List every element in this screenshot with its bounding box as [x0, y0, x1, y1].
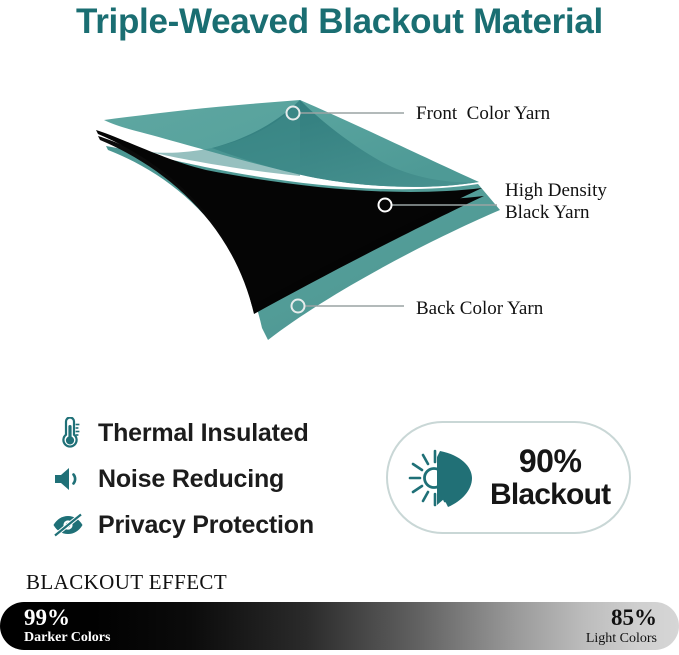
feature-label: Thermal Insulated	[98, 419, 309, 448]
feature-list: Thermal Insulated Noise Reducing Privacy…	[48, 410, 378, 548]
feature-noise-reducing: Noise Reducing	[48, 456, 378, 502]
bar-right-caption: Light Colors	[586, 632, 657, 646]
thermometer-icon	[48, 413, 88, 453]
blackout-badge: 90% Blackout	[386, 421, 631, 534]
feature-label: Noise Reducing	[98, 465, 284, 494]
bar-left-stat: 99% Darker Colors	[24, 606, 110, 645]
page-title: Triple-Weaved Blackout Material	[0, 2, 679, 42]
bar-right-percent: 85%	[586, 606, 657, 629]
bar-right-stat: 85% Light Colors	[586, 606, 657, 646]
badge-percent: 90%	[490, 445, 610, 479]
eye-slash-icon	[48, 505, 88, 545]
speaker-sound-icon	[48, 459, 88, 499]
badge-text-block: 90% Blackout	[490, 445, 610, 510]
sun-blocked-by-curtain-icon	[404, 443, 482, 513]
feature-label: Privacy Protection	[98, 511, 314, 540]
blackout-effect-gradient-bar: 99% Darker Colors 85% Light Colors	[0, 602, 679, 650]
feature-privacy-protection: Privacy Protection	[48, 502, 378, 548]
callout-label-black: High Density Black Yarn	[505, 180, 607, 225]
blackout-effect-heading: BLACKOUT EFFECT	[26, 570, 227, 595]
bar-left-caption: Darker Colors	[24, 631, 110, 645]
callout-label-back: Back Color Yarn	[416, 298, 543, 320]
feature-thermal-insulated: Thermal Insulated	[48, 410, 378, 456]
callout-label-front: Front Color Yarn	[416, 103, 550, 125]
badge-word: Blackout	[490, 479, 610, 511]
bar-left-percent: 99%	[24, 606, 110, 629]
